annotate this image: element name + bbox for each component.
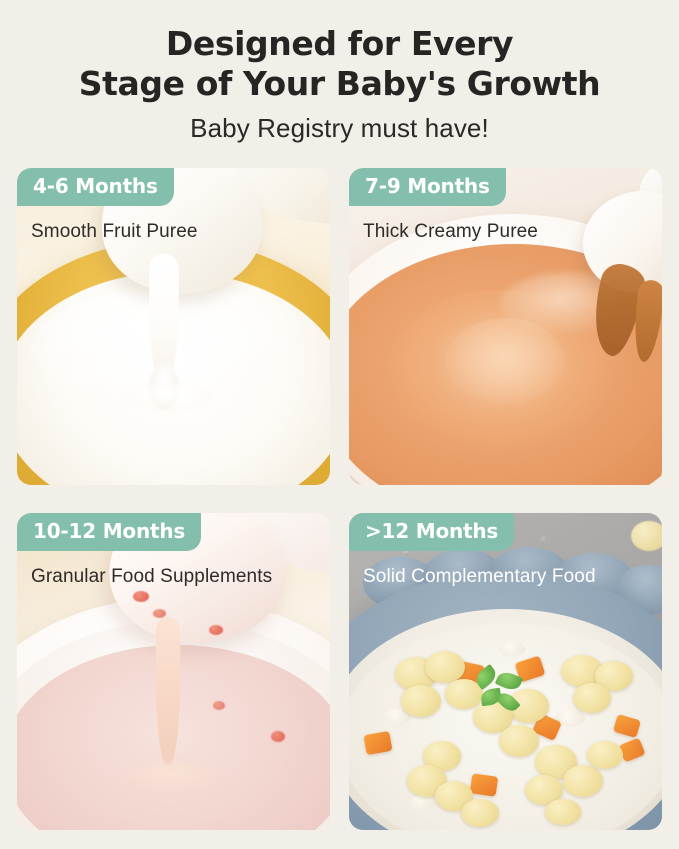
food-granule [271,731,285,742]
thick-creamy-puree-photo [349,168,662,485]
page-subtitle: Baby Registry must have! [0,113,679,143]
stage-card-10-12-months[interactable]: 10-12 Months Granular Food Supplements [17,513,330,830]
infographic-page: Designed for Every Stage of Your Baby's … [0,0,679,849]
stage-card-7-9-months[interactable]: 7-9 Months Thick Creamy Puree [349,168,662,485]
age-badge: 4-6 Months [17,168,174,206]
food-granule [133,591,149,602]
age-badge: 7-9 Months [349,168,506,206]
oat-flake [499,641,525,657]
card-caption: Smooth Fruit Puree [31,220,198,243]
age-badge: 10-12 Months [17,513,201,551]
age-badge: >12 Months [349,513,514,551]
banana-slice [587,741,623,769]
carrot-piece [470,773,499,796]
banana-slice [425,651,465,683]
banana-slice [545,799,581,825]
banana-slice [461,799,499,827]
stage-card-over-12-months[interactable]: >12 Months Solid Complementary Food [349,513,662,830]
food-granule [209,625,223,635]
banana-slice [573,683,611,713]
puree-pool-highlight [119,761,223,793]
side-garnish [631,521,662,551]
banana-slice [401,685,441,717]
header: Designed for Every Stage of Your Baby's … [0,24,679,143]
stage-card-grid: 4-6 Months Smooth Fruit Puree 7-9 Months… [17,168,662,830]
card-caption: Granular Food Supplements [31,565,272,588]
solid-complementary-food-photo [349,513,662,830]
smooth-fruit-puree-photo [17,168,330,485]
granular-food-supplements-photo [17,513,330,830]
title-line-2: Stage of Your Baby's Growth [0,64,679,104]
oat-flake [409,795,435,810]
title-line-1: Designed for Every [166,24,513,63]
stage-card-4-6-months[interactable]: 4-6 Months Smooth Fruit Puree [17,168,330,485]
card-caption: Thick Creamy Puree [363,220,538,243]
food-granule [213,701,225,710]
puree-pool-highlight [121,382,213,412]
card-caption: Solid Complementary Food [363,565,596,588]
banana-slice [499,725,539,757]
banana-slice [563,765,603,797]
page-title: Designed for Every Stage of Your Baby's … [0,24,679,104]
